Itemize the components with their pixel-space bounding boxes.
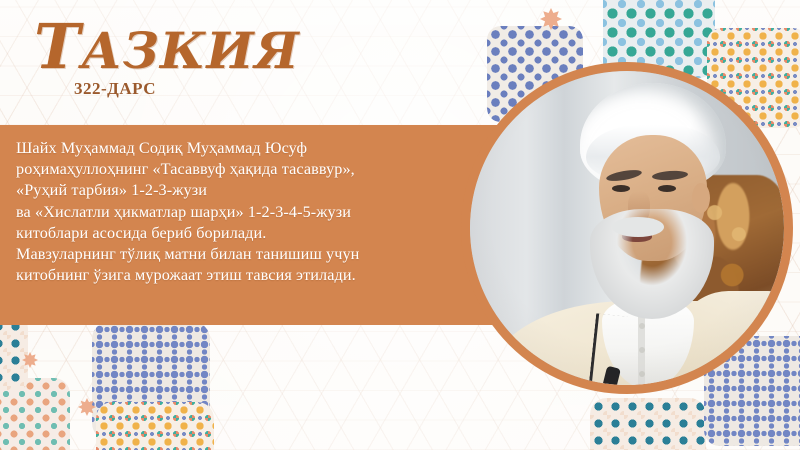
banner-line: ва «Хислатли ҳикматлар шарҳи» 1-2-3-4-5-… [16,202,446,223]
banner-line: роҳимаҳуллоҳнинг «Тасаввуф ҳақида тасавв… [16,159,446,180]
banner-line: «Руҳий тарбия» 1-2-3-жузи [16,180,446,201]
banner-text-block: Шайх Муҳаммад Содиқ Муҳаммад Юсуф роҳима… [16,138,446,286]
banner-line: Мавзуларнинг тўлиқ матни билан танишиш у… [16,244,446,265]
speaker-photo [470,71,784,385]
banner-line: Шайх Муҳаммад Содиқ Муҳаммад Юсуф [16,138,446,159]
banner-line: китобнинг ўзига мурожаат этиш тавсия эти… [16,265,446,286]
lesson-number-label: 322-ДАРС [74,79,300,99]
tile-bottom-right-pink [590,398,706,450]
page-title: ТАЗКИЯ [34,22,300,76]
tile-bottom-mid-multi [96,402,214,450]
slide-canvas: ТАЗКИЯ 322-ДАРС Шайх Муҳаммад Содиқ Муҳа… [0,0,800,450]
tile-left-small-teal [0,318,28,390]
header-title-block: ТАЗКИЯ 322-ДАРС [34,22,300,99]
photo-vignette [470,71,784,385]
banner-line: китоблари асосида бериб борилади. [16,223,446,244]
speaker-portrait-frame [461,62,793,394]
